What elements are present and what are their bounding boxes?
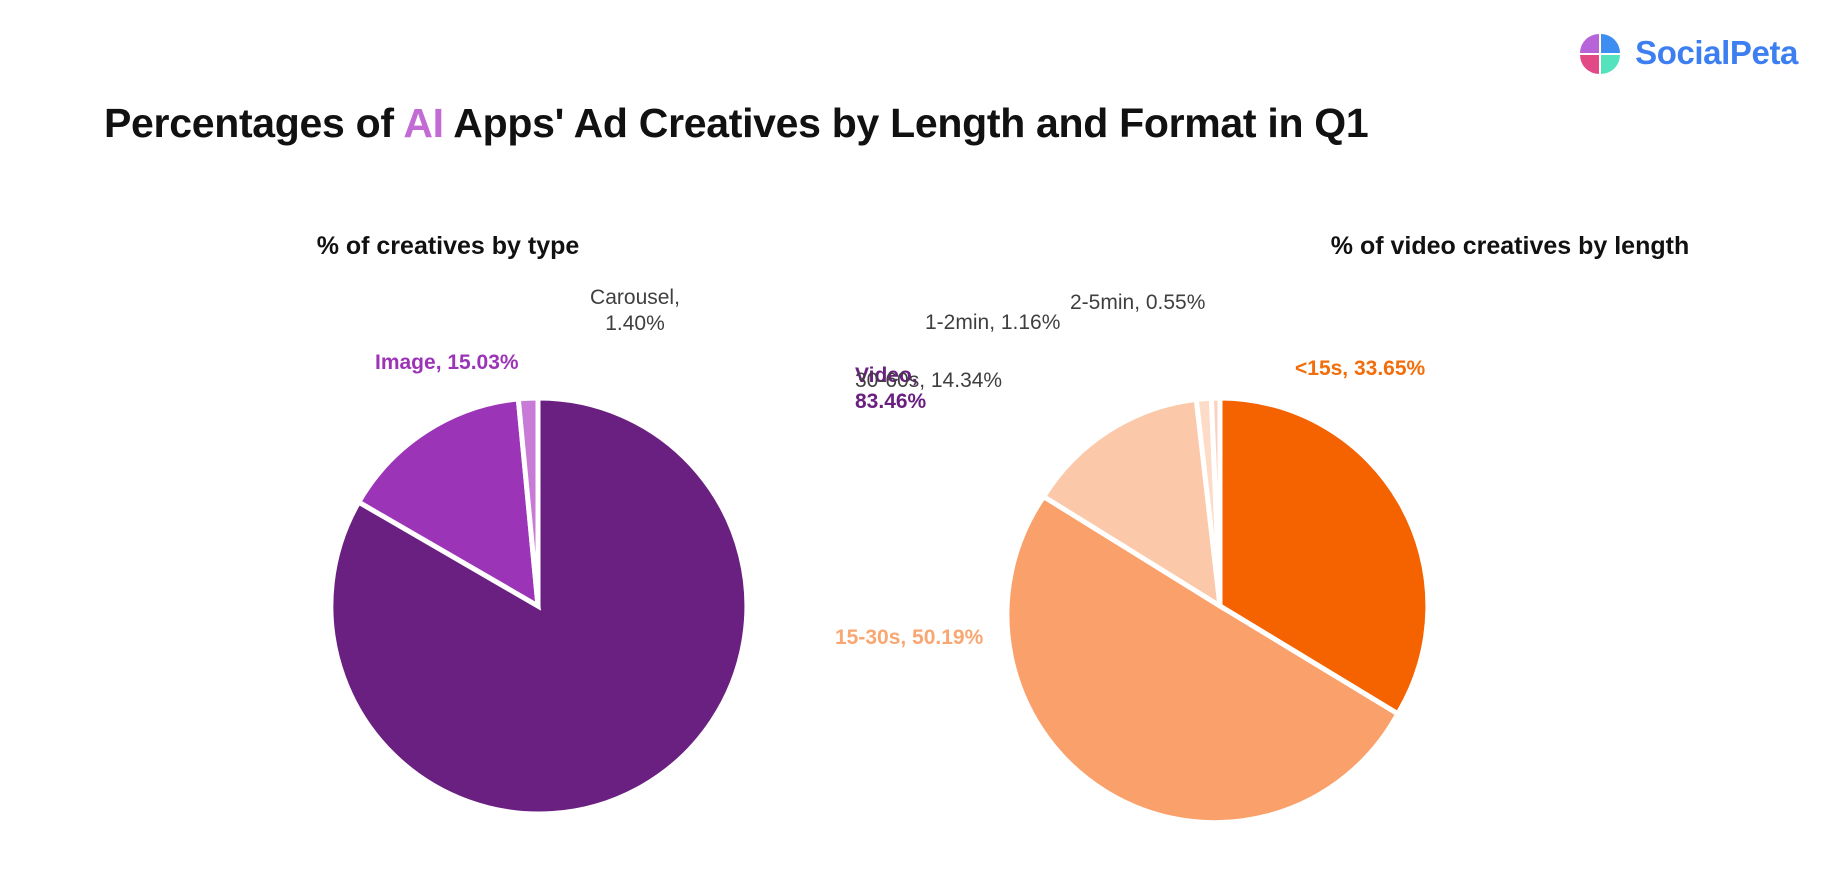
- page-title-accent: AI: [403, 100, 443, 146]
- pie-label-image: Image, 15.03%: [375, 350, 519, 376]
- pie-chart-creative-type: [120, 190, 920, 880]
- chart-panel-video-length: % of video creatives by length 2-5min, 0…: [930, 190, 1730, 880]
- pie-label-15-30s: 15-30s, 50.19%: [835, 625, 983, 651]
- pinwheel-logo-icon: [1577, 30, 1623, 76]
- chart-panel-creative-type: % of creatives by type Carousel, 1.40% I…: [120, 190, 920, 880]
- pie-label-1-2min: 1-2min, 1.16%: [925, 310, 1060, 336]
- page-title-part1: Percentages of: [104, 100, 403, 146]
- page-title: Percentages of AI Apps' Ad Creatives by …: [104, 100, 1368, 147]
- socialpeta-logo: SocialPeta: [1577, 30, 1798, 76]
- brand-name: SocialPeta: [1635, 34, 1798, 72]
- infographic-page: SocialPeta Percentages of AI Apps' Ad Cr…: [0, 0, 1838, 880]
- page-title-part2: Apps' Ad Creatives by Length and Format …: [444, 100, 1369, 146]
- pie-label-2-5min: 2-5min, 0.55%: [1070, 290, 1205, 316]
- pie-label-carousel: Carousel, 1.40%: [575, 285, 695, 338]
- pie-label-lt15s: <15s, 33.65%: [1295, 356, 1425, 382]
- pie-chart-video-length: [930, 190, 1730, 880]
- pie-label-30-60s: 30-60s, 14.34%: [855, 368, 1002, 394]
